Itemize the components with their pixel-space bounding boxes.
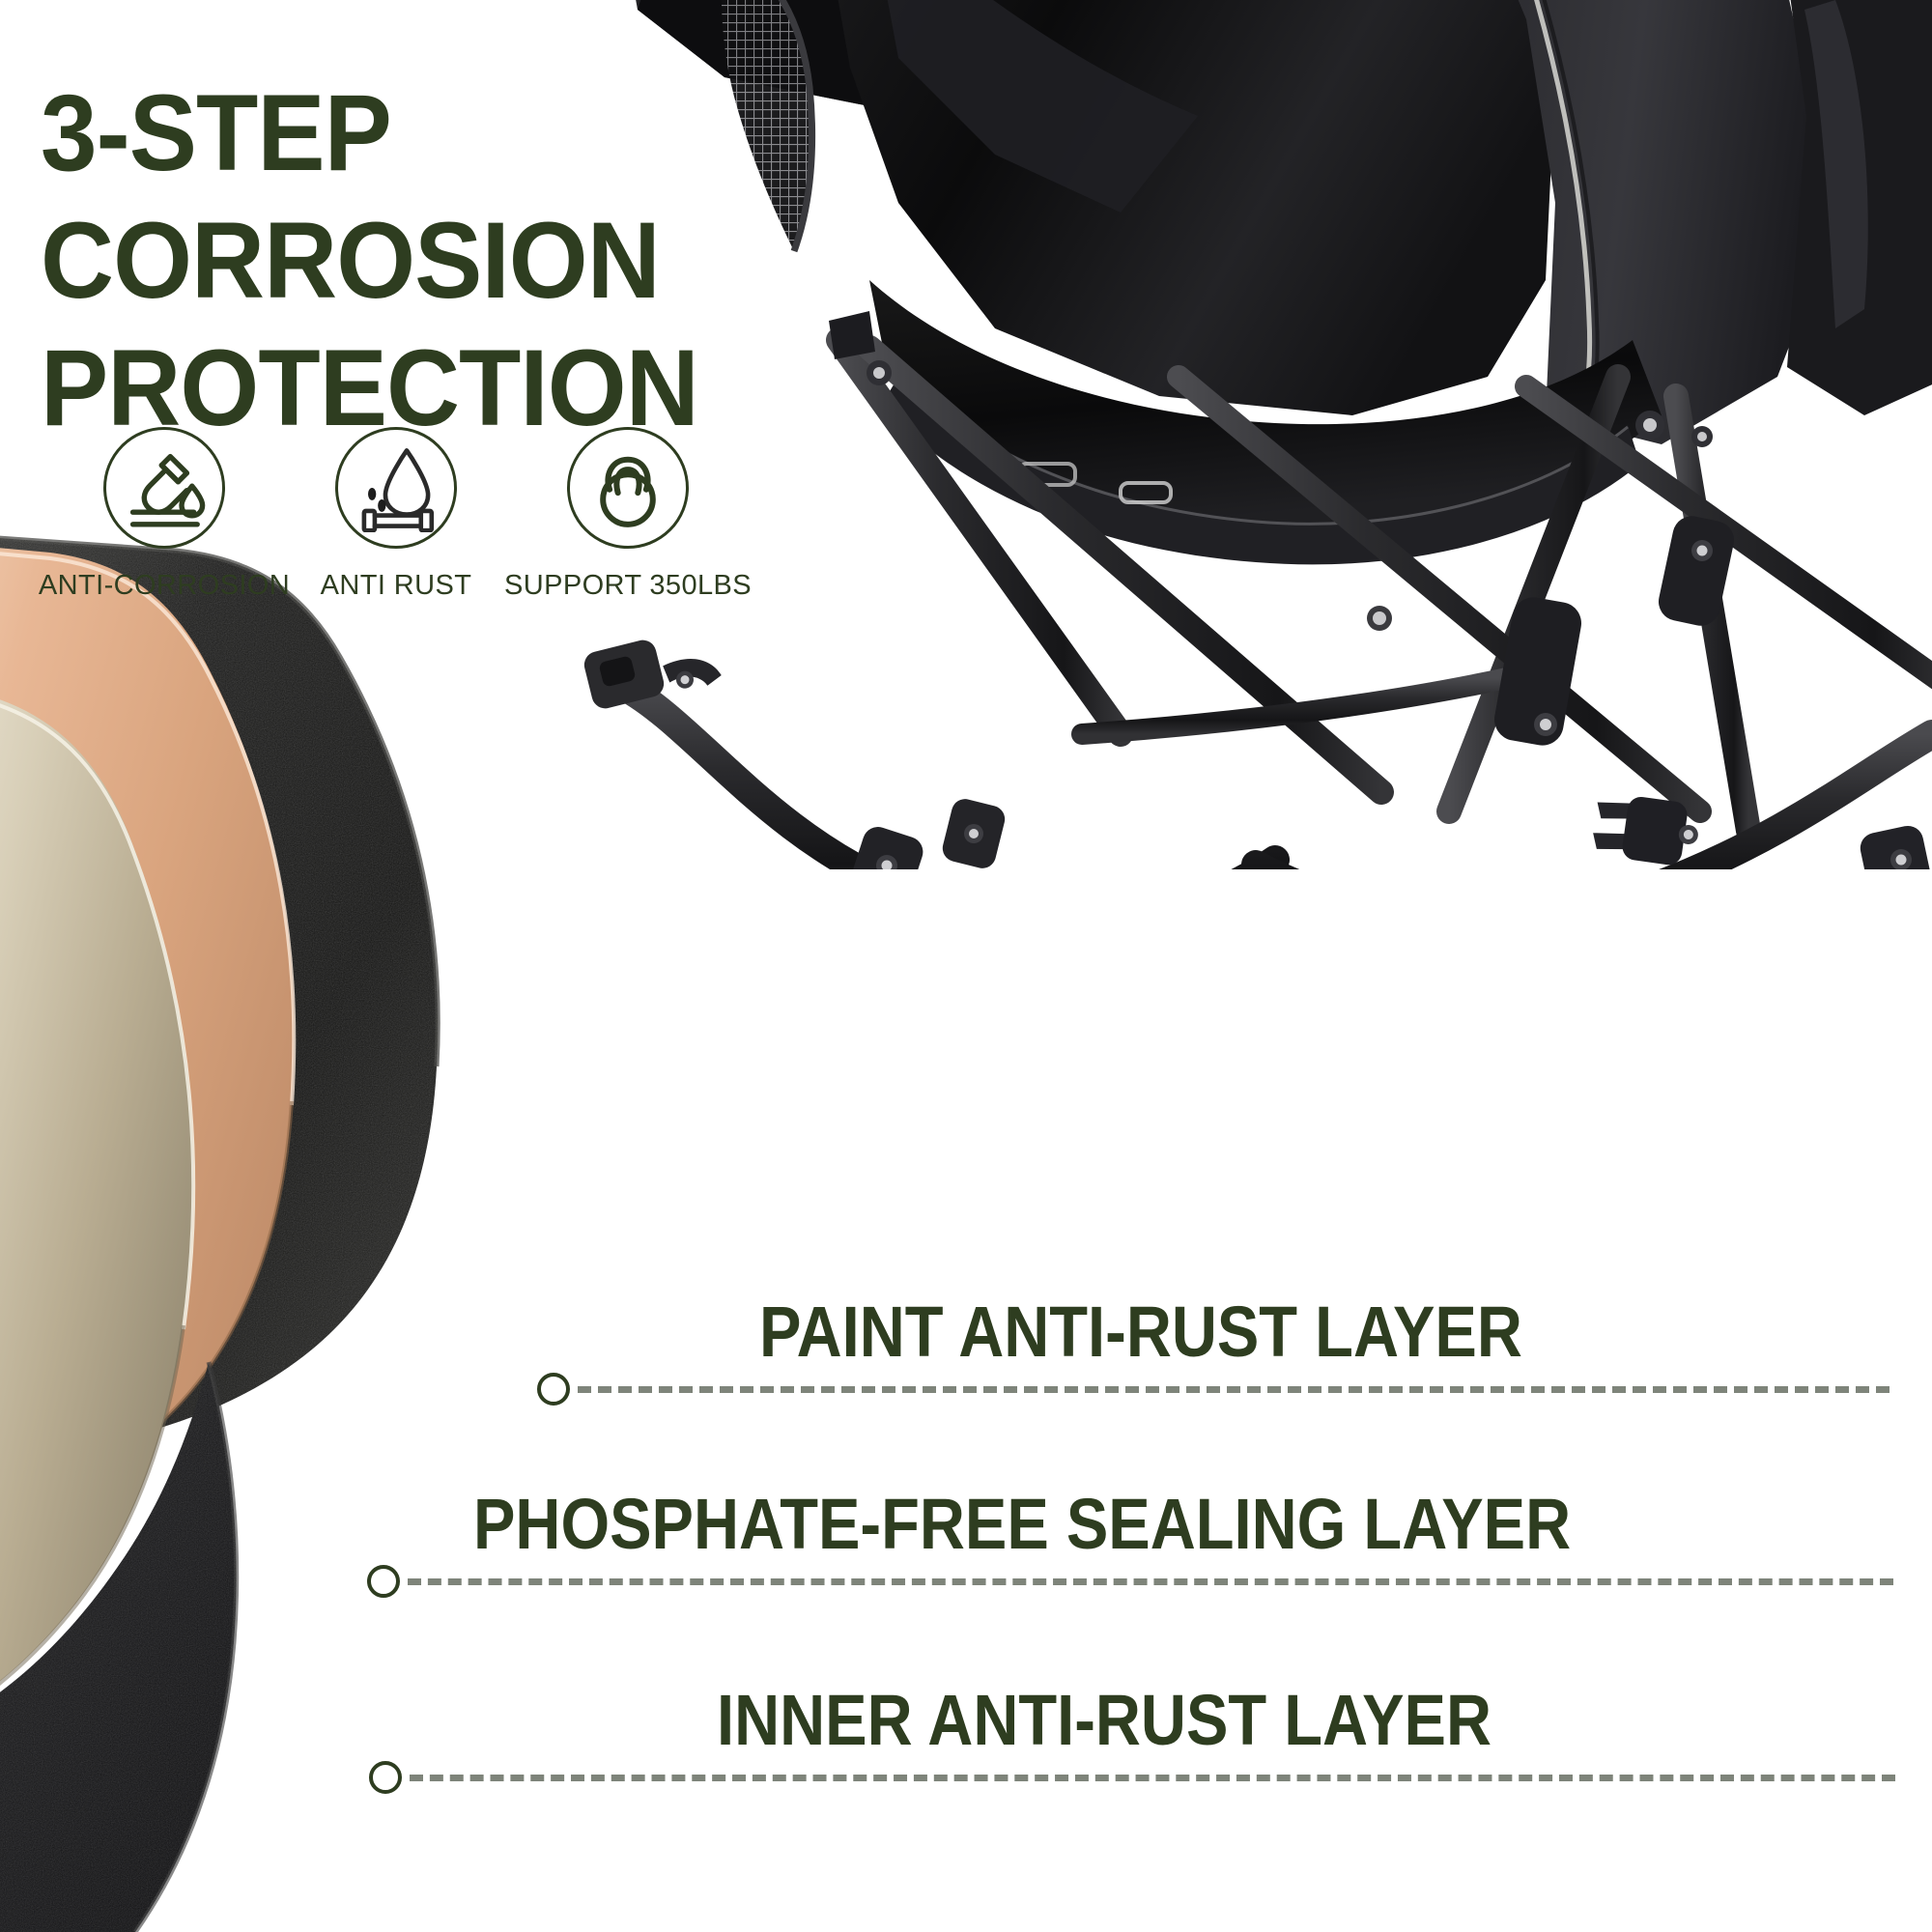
callout-dashed-line (410, 1775, 1895, 1781)
water-drop-pipe-icon (335, 427, 457, 549)
kettlebell-icon (567, 427, 689, 549)
callout-inner-anti-rust-layer: INNER ANTI-RUST LAYER (369, 1761, 1895, 1794)
callout-marker-dot (537, 1373, 570, 1406)
callout-dashed-line (578, 1386, 1889, 1393)
feature-label: ANTI-CORROSION (39, 570, 290, 602)
feature-anti-rust: ANTI RUST (280, 427, 512, 602)
acid-test-tube-icon (103, 427, 225, 549)
callout-marker-dot (367, 1565, 400, 1598)
callout-paint-anti-rust-layer: PAINT ANTI-RUST LAYER (537, 1373, 1889, 1406)
callout-dashed-line (408, 1578, 1893, 1585)
callout-label: INNER ANTI-RUST LAYER (717, 1679, 1492, 1761)
callout-marker-dot (369, 1761, 402, 1794)
callout-label: PAINT ANTI-RUST LAYER (759, 1291, 1522, 1373)
coating-cross-section-illustration (0, 502, 753, 1932)
infographic-canvas: 3-STEP CORROSION PROTECTION ANTI-CORROSI… (0, 0, 1932, 1932)
feature-support-weight: SUPPORT 350LBS (512, 427, 744, 602)
feature-label: SUPPORT 350LBS (504, 570, 752, 602)
feature-icons-row: ANTI-CORROSION A (48, 427, 744, 602)
feature-anti-corrosion: ANTI-CORROSION (48, 427, 280, 602)
page-title: 3-STEP CORROSION PROTECTION (41, 70, 967, 452)
callout-label: PHOSPHATE-FREE SEALING LAYER (473, 1483, 1571, 1565)
callout-phosphate-free-sealing-layer: PHOSPHATE-FREE SEALING LAYER (367, 1565, 1893, 1598)
feature-label: ANTI RUST (321, 570, 472, 602)
